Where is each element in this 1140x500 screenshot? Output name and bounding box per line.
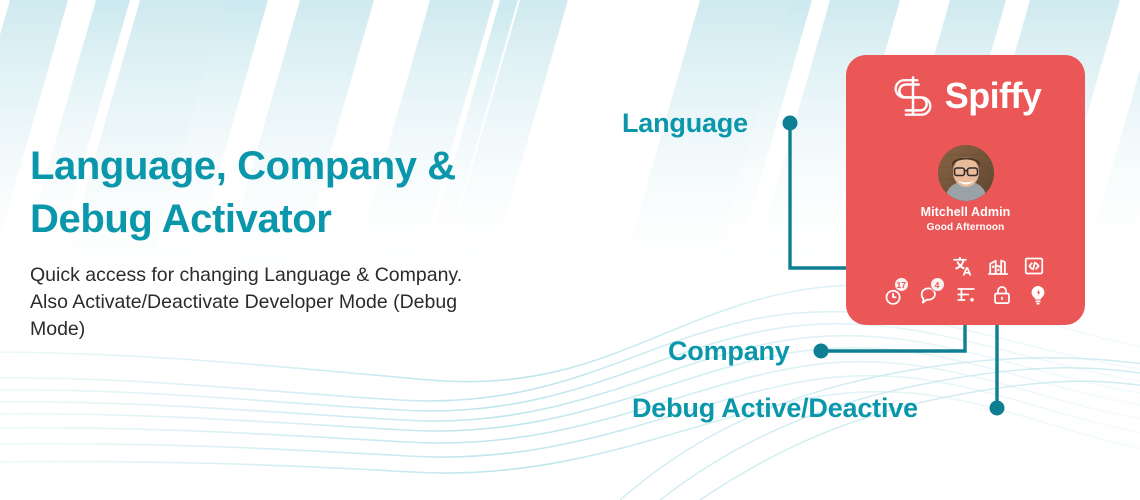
promo-banner: Language, Company & Debug Activator Quic… [0, 0, 1140, 500]
spiffy-user-card: Spiffy [846, 55, 1085, 325]
brand-name: Spiffy [945, 78, 1041, 114]
page-title: Language, Company & Debug Activator [30, 140, 550, 246]
callout-label-language: Language [622, 108, 748, 139]
page-title-line1: Language, Company & [30, 140, 550, 193]
user-greeting: Good Afternoon [846, 222, 1085, 233]
wave-lines-right [620, 358, 1140, 500]
page-title-line2: Debug Activator [30, 193, 550, 246]
connector-dot-debug [990, 401, 1005, 416]
quick-icon-row [846, 255, 1085, 277]
code-debug-icon[interactable] [1023, 255, 1045, 277]
user-name: Mitchell Admin [846, 205, 1085, 219]
lightbulb-icon[interactable] [1027, 284, 1049, 306]
lock-icon[interactable] [991, 284, 1013, 306]
chat-bubble-icon[interactable]: 4 [919, 284, 941, 306]
filter-icon[interactable] [955, 284, 977, 306]
spiffy-s-logo [890, 73, 936, 119]
page-subtitle: Quick access for changing Language & Com… [30, 262, 500, 343]
callout-label-company: Company [668, 336, 790, 367]
translate-icon[interactable] [951, 255, 973, 277]
avatar [938, 145, 994, 201]
brand-lockup: Spiffy [846, 73, 1085, 119]
badge-messages: 4 [930, 277, 945, 292]
clock-activity-icon[interactable]: 17 [883, 284, 905, 306]
callout-label-debug: Debug Active/Deactive [632, 393, 918, 424]
connector-dot-language [783, 116, 798, 131]
status-icon-row: 17 4 [846, 284, 1085, 306]
company-building-icon[interactable] [987, 255, 1009, 277]
avatar-photo [938, 145, 994, 201]
badge-activities: 17 [894, 277, 909, 292]
connector-dot-company [814, 344, 829, 359]
